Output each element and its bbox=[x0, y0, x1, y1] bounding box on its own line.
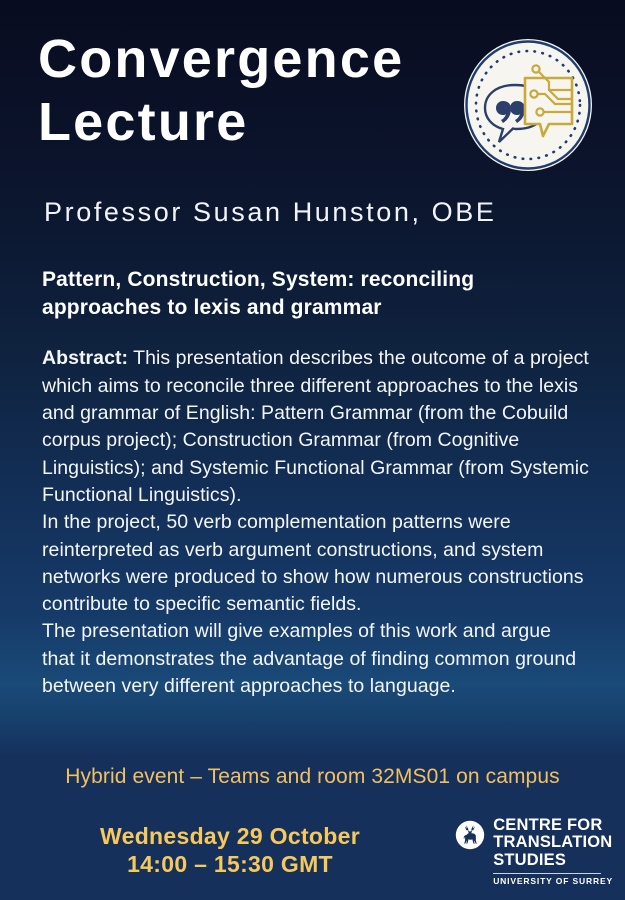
surrey-stag-emblem bbox=[455, 820, 485, 850]
cts-university-line: UNIVERSITY OF SURREY bbox=[493, 877, 613, 886]
cts-wordmark: CENTRE FOR TRANSLATION STUDIES UNIVERSIT… bbox=[493, 817, 613, 886]
event-time: 14:00 – 15:30 GMT bbox=[0, 850, 460, 878]
talk-title: Pattern, Construction, System: reconcili… bbox=[0, 266, 625, 321]
abstract-paragraph-2: In the project, 50 verb complementation … bbox=[42, 509, 589, 618]
cts-line-2: TRANSLATION bbox=[493, 834, 613, 851]
event-datetime: Wednesday 29 October 14:00 – 15:30 GMT bbox=[0, 822, 460, 878]
speaker-name: Professor Susan Hunston, OBE bbox=[0, 197, 625, 228]
masthead-line-2: Lecture bbox=[38, 91, 468, 154]
quote-circuit-speech-bubbles-badge bbox=[463, 38, 593, 172]
hybrid-event-line: Hybrid event – Teams and room 32MS01 on … bbox=[0, 765, 625, 789]
abstract-block: Abstract: This presentation describes th… bbox=[0, 345, 625, 700]
abstract-label: Abstract: bbox=[42, 347, 128, 369]
abstract-paragraph-3: The presentation will give examples of t… bbox=[42, 618, 589, 700]
masthead-line-1: Convergence bbox=[38, 29, 404, 89]
abstract-text-1: This presentation describes the outcome … bbox=[42, 347, 589, 505]
poster-masthead: Convergence Lecture bbox=[38, 28, 468, 153]
poster-header: Convergence Lecture bbox=[0, 0, 625, 175]
event-date: Wednesday 29 October bbox=[0, 822, 460, 850]
centre-for-translation-studies-logo: CENTRE FOR TRANSLATION STUDIES UNIVERSIT… bbox=[455, 817, 613, 886]
convergence-lecture-poster: Convergence Lecture bbox=[0, 0, 625, 900]
cts-line-1: CENTRE FOR bbox=[493, 817, 613, 834]
cts-divider-rule bbox=[493, 873, 601, 874]
cts-line-3: STUDIES bbox=[493, 852, 613, 869]
abstract-paragraph-1: Abstract: This presentation describes th… bbox=[42, 345, 589, 509]
